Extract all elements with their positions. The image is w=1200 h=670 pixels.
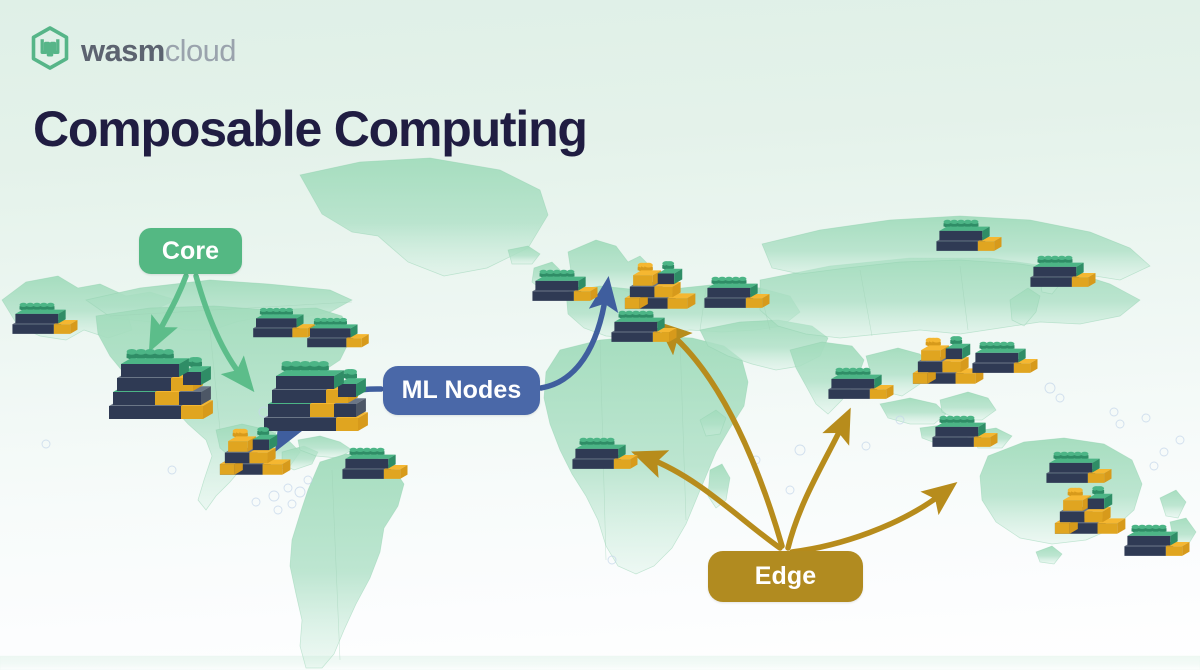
node-india[interactable] [824,370,905,414]
node-us-west[interactable] [103,348,227,434]
legend-pill-core[interactable]: Core [139,228,242,274]
node-russia[interactable] [932,222,1013,266]
node-west-africa[interactable] [568,440,649,484]
legend-pill-edge[interactable]: Edge [708,551,863,602]
arrow-edge-to-west-africa [648,458,780,548]
page-title: Composable Computing [33,104,587,154]
arrow-core-to-us-west [157,276,186,336]
node-southeast-asia[interactable] [928,418,1009,462]
node-mediterranean[interactable] [607,313,688,357]
node-china-north[interactable] [1026,258,1107,302]
wasmcloud-hexagon-icon [30,26,70,75]
node-east-europe[interactable] [700,279,781,323]
node-japan[interactable] [968,344,1049,388]
wasmcloud-wordmark: wasmcloud [81,35,236,66]
legend-pill-edge-label: Edge [755,562,817,591]
node-new-zealand[interactable] [1120,527,1200,571]
node-alaska[interactable] [8,305,89,349]
wasmcloud-logo[interactable]: wasmcloud [30,26,236,75]
arrow-edge-to-india [788,424,843,548]
node-mexico[interactable] [215,428,304,489]
legend-pill-core-label: Core [162,237,219,266]
legend-pill-ml-nodes[interactable]: ML Nodes [383,366,540,415]
logo-word-primary: wasm [81,33,165,68]
legend-pill-ml-nodes-label: ML Nodes [402,376,522,405]
node-south-america[interactable] [338,450,419,494]
node-uk[interactable] [528,272,609,316]
arrow-edge-to-mediterranean [670,333,782,546]
arrow-edge-to-australia [792,493,943,552]
logo-word-secondary: cloud [165,33,236,68]
node-canada-east[interactable] [303,320,380,362]
infographic-canvas: wasmcloud Composable Computing Core ML N… [0,0,1200,670]
